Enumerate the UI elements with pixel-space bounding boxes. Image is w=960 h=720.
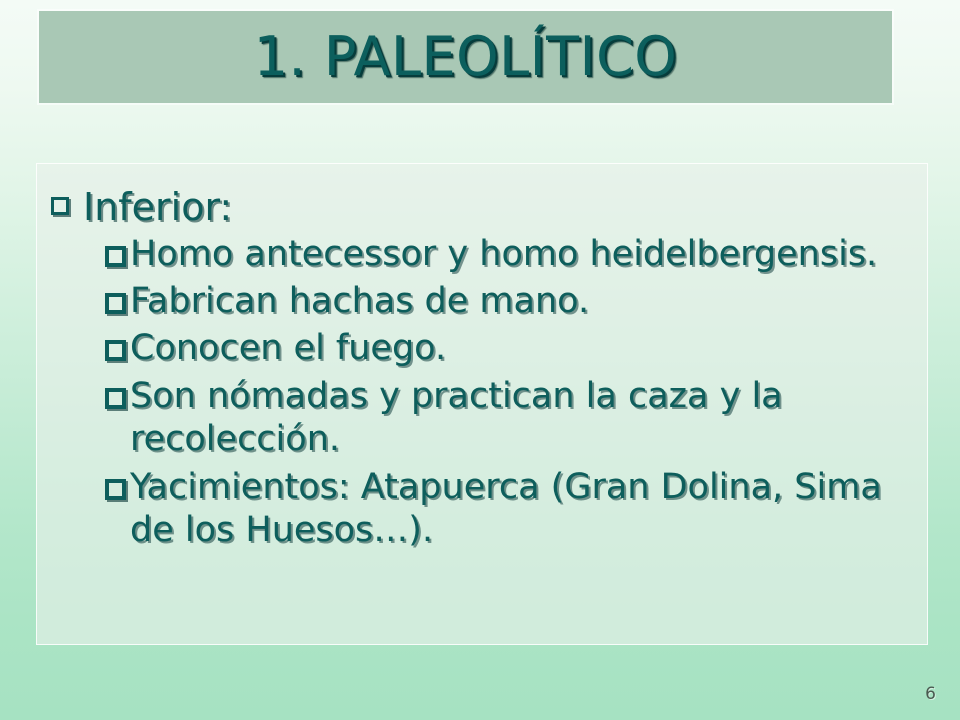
bullet-item-level2: Yacimientos: Atapuerca (Gran Dolina, Sim… xyxy=(105,466,913,553)
bullet-item-level2: Conocen el fuego. xyxy=(105,327,913,370)
bullet-item-level2: Homo antecessor y homo heidelbergensis. xyxy=(105,233,913,276)
hollow-square-bullet-icon xyxy=(105,293,126,314)
bullet-item-level2-label: Fabrican hachas de mano. xyxy=(130,280,589,323)
hollow-square-bullet-icon xyxy=(105,340,126,361)
slide-content-panel: Inferior: Homo antecessor y homo heidelb… xyxy=(36,163,928,645)
hollow-square-bullet-icon xyxy=(105,246,126,267)
bullet-item-level2: Son nómadas y practican la caza y la rec… xyxy=(105,375,913,462)
hollow-square-bullet-icon xyxy=(105,479,126,500)
hollow-square-bullet-icon xyxy=(105,388,126,409)
slide-number: 6 xyxy=(925,684,936,704)
bullet-item-level2-label: Homo antecessor y homo heidelbergensis. xyxy=(130,233,877,276)
bullet-item-level2-label: Yacimientos: Atapuerca (Gran Dolina, Sim… xyxy=(130,466,913,553)
hollow-square-bullet-icon xyxy=(51,197,69,215)
page-title: 1. PALEOLÍTICO xyxy=(254,30,678,84)
bullet-item-level2-label: Conocen el fuego. xyxy=(130,327,446,370)
bullet-item-level1: Inferior: xyxy=(51,186,913,229)
bullet-item-level2-label: Son nómadas y practican la caza y la rec… xyxy=(130,375,913,462)
slide-title-band: 1. PALEOLÍTICO xyxy=(39,11,892,103)
presentation-slide: 1. PALEOLÍTICO Inferior: Homo antecessor… xyxy=(0,0,960,720)
bullet-item-level2: Fabrican hachas de mano. xyxy=(105,280,913,323)
bullet-item-level1-label: Inferior: xyxy=(83,186,232,229)
